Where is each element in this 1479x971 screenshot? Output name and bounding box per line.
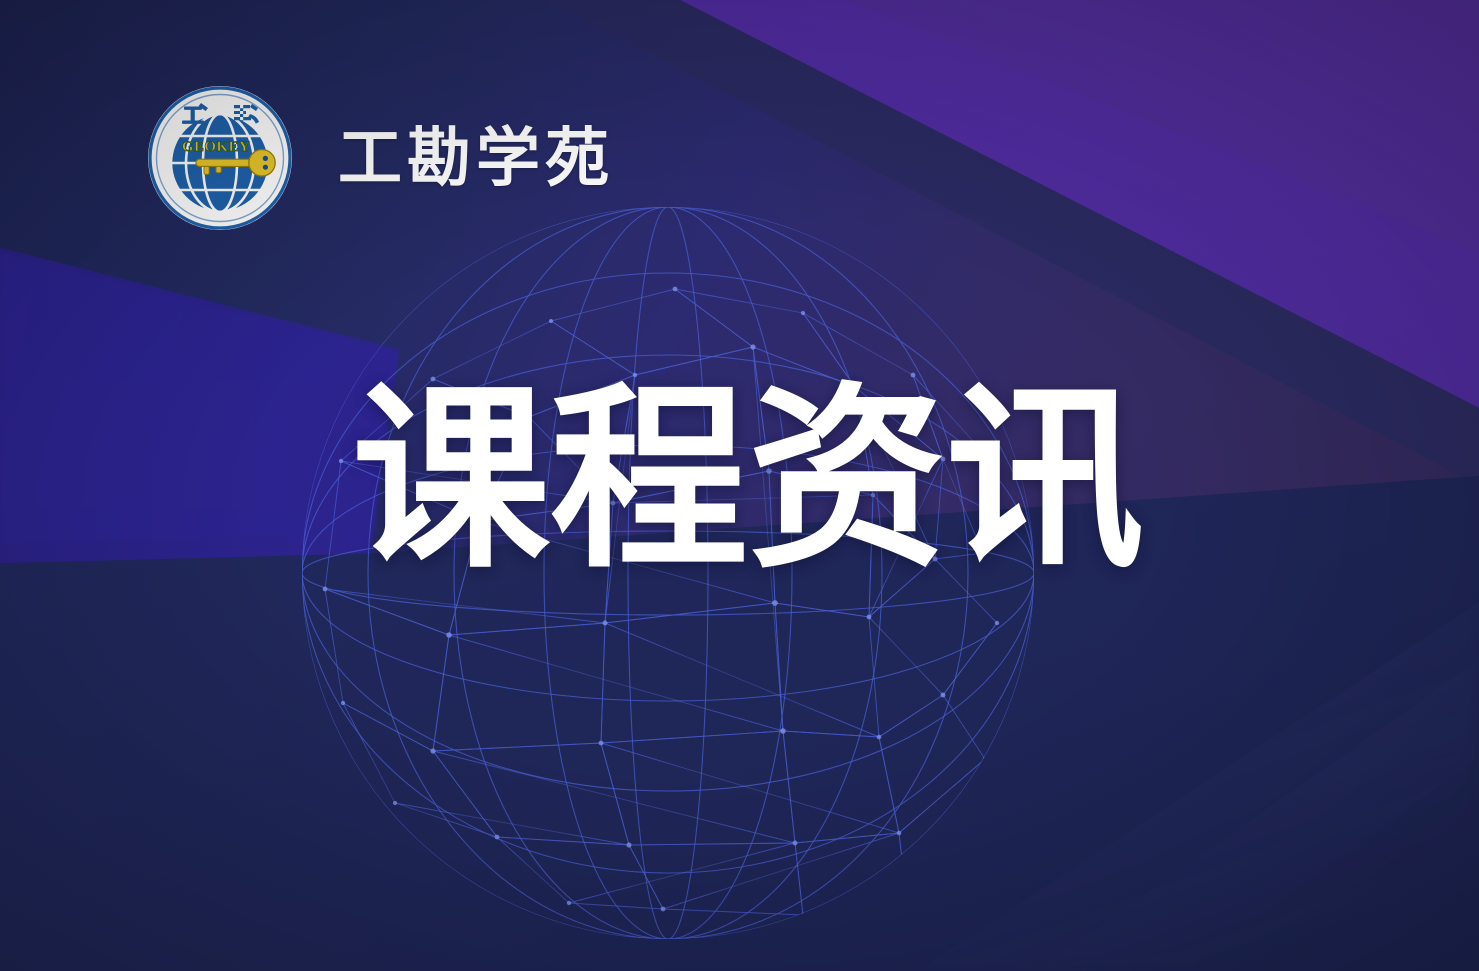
brand-name: 工勘学苑 — [338, 126, 614, 190]
geokey-wordmark: GEOKEY — [182, 139, 250, 155]
geokey-globe-key-logo: GEOKEY — [146, 84, 294, 232]
page-title: 课程资讯 — [352, 381, 1144, 579]
brand-lockup: GEOKEY 工勘学苑 — [146, 84, 614, 232]
course-info-banner: GEOKEY 工勘学苑 课程资讯 — [0, 0, 1479, 971]
